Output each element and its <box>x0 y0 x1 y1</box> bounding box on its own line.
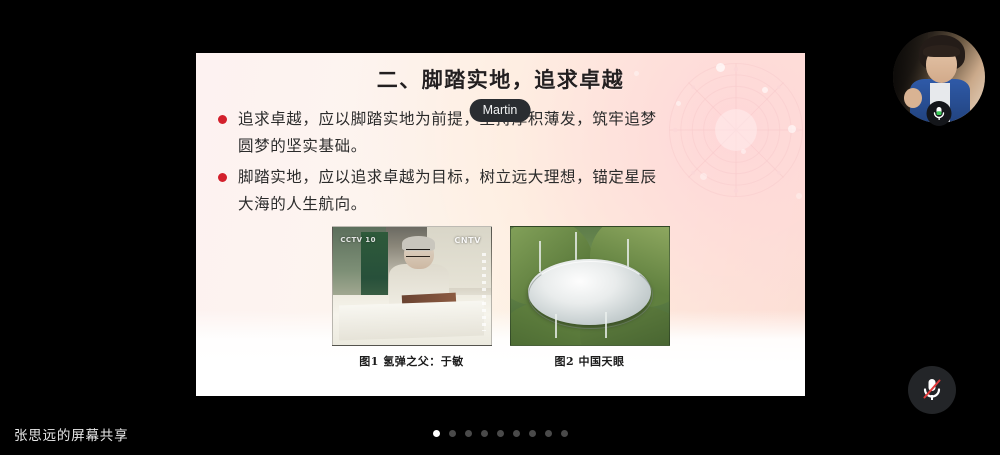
bullet-1-line-2: 圆梦的坚实基础。 <box>238 133 775 160</box>
slide-title: 二、脚踏实地，追求卓越 <box>196 53 805 94</box>
participant-name-badge: Martin <box>470 99 531 122</box>
photo-region <box>339 300 484 340</box>
participant-mic-indicator <box>927 101 952 126</box>
photo-region <box>406 249 430 257</box>
photo-region <box>555 314 557 338</box>
bullet-2-line-2: 大海的人生航向。 <box>238 191 775 218</box>
photo-region <box>605 312 607 338</box>
page-dot[interactable] <box>513 430 520 437</box>
photo-region <box>627 239 629 270</box>
page-dot[interactable] <box>433 430 440 437</box>
page-dot[interactable] <box>529 430 536 437</box>
photo-region <box>482 253 486 331</box>
figure-2-photo <box>510 226 670 346</box>
mute-microphone-button[interactable] <box>908 366 956 414</box>
microphone-active-icon <box>933 106 946 121</box>
cntv-logo-icon: CNTV <box>454 236 481 245</box>
meeting-stage: 二、脚踏实地，追求卓越 追求卓越，应以脚踏实地为前提，坚持厚积薄发，筑牢追梦 圆… <box>0 0 1000 455</box>
bullet-dot-icon <box>218 115 227 124</box>
bullet-2-line-1: 脚踏实地，应以追求卓越为目标，树立远大理想，锚定星辰 <box>238 168 657 186</box>
page-dot[interactable] <box>561 430 568 437</box>
figure-2-caption: 图2 中国天眼 <box>510 353 670 369</box>
page-dot[interactable] <box>497 430 504 437</box>
photo-region <box>539 241 541 272</box>
page-dot[interactable] <box>465 430 472 437</box>
page-dot[interactable] <box>481 430 488 437</box>
photo-region <box>528 261 653 329</box>
bullet-point-2: 脚踏实地，应以追求卓越为目标，树立远大理想，锚定星辰 大海的人生航向。 <box>238 164 775 218</box>
cctv-logo-icon: CCTV 10 <box>340 236 375 244</box>
bullet-dot-icon <box>218 173 227 182</box>
page-dot[interactable] <box>545 430 552 437</box>
avatar-region <box>923 45 960 57</box>
page-dot[interactable] <box>449 430 456 437</box>
microphone-muted-icon <box>920 376 944 404</box>
bullet-1-line-1: 追求卓越，应以脚踏实地为前提，坚持厚积薄发，筑牢追梦 <box>238 110 657 128</box>
slide-figure-row: CCTV 10 CNTV 图1 氢弹之父：于敏 <box>196 226 805 369</box>
slide-pagination-dots[interactable] <box>0 430 1000 437</box>
figure-block-1: CCTV 10 CNTV 图1 氢弹之父：于敏 <box>332 226 492 369</box>
figure-block-2: 图2 中国天眼 <box>510 226 670 369</box>
figure-1-photo: CCTV 10 CNTV <box>332 226 492 346</box>
figure-1-caption: 图1 氢弹之父：于敏 <box>332 353 492 369</box>
participant-video-tile[interactable] <box>893 31 985 123</box>
slide-bullet-list: 追求卓越，应以脚踏实地为前提，坚持厚积薄发，筑牢追梦 圆梦的坚实基础。 脚踏实地… <box>196 106 805 218</box>
